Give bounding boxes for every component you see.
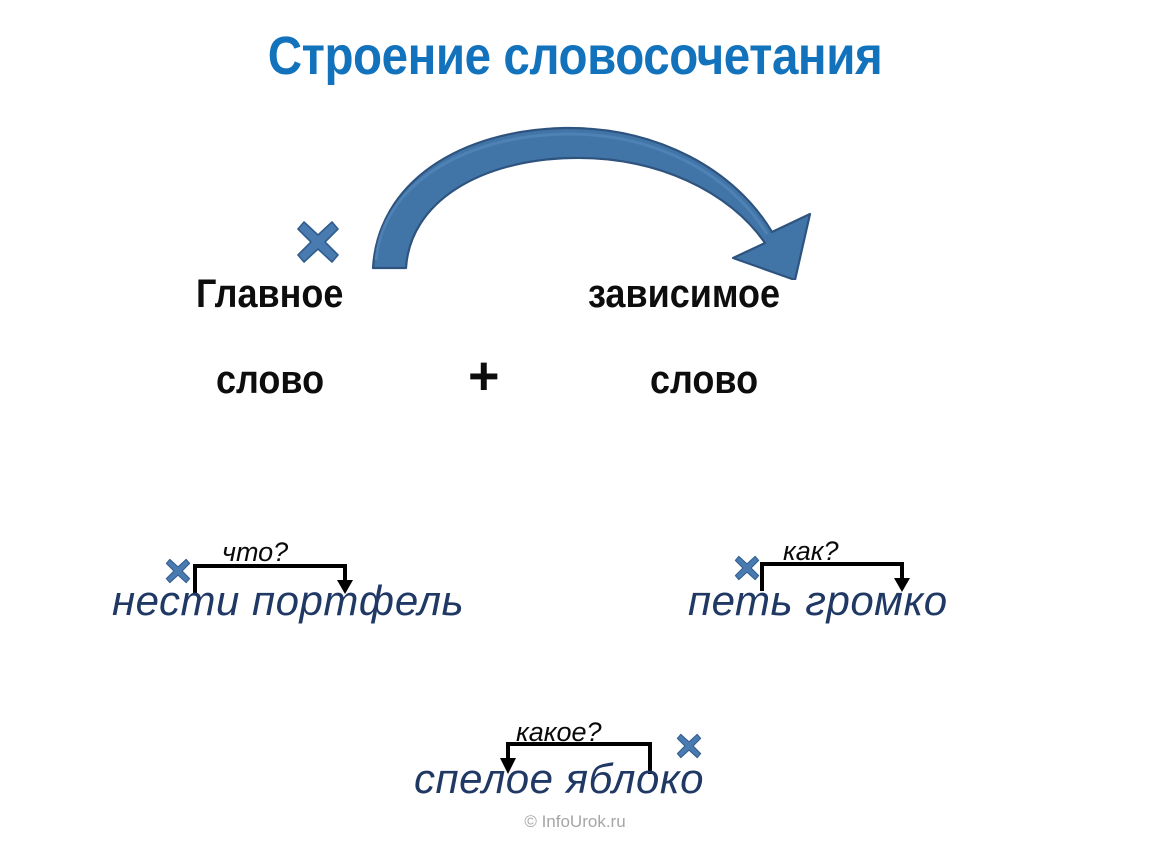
slide-canvas: Строение словосочетания Главное зависимо…	[0, 0, 1150, 864]
dependent-word-slovo-label: слово	[650, 358, 758, 402]
main-word-slovo-label: слово	[216, 358, 324, 402]
x-mark-icon	[294, 218, 342, 266]
example-phrase: петь громко	[688, 578, 948, 624]
watermark-text: © InfoUrok.ru	[0, 812, 1150, 832]
example-phrase: нести портфель	[112, 578, 464, 624]
plus-sign: +	[468, 348, 500, 404]
example-phrase: спелое яблоко	[414, 756, 704, 802]
curved-arrow-right-icon	[340, 110, 840, 280]
dependent-word-label: зависимое	[588, 272, 780, 316]
page-title: Строение словосочетания	[69, 26, 1081, 86]
main-word-label: Главное	[196, 272, 343, 316]
